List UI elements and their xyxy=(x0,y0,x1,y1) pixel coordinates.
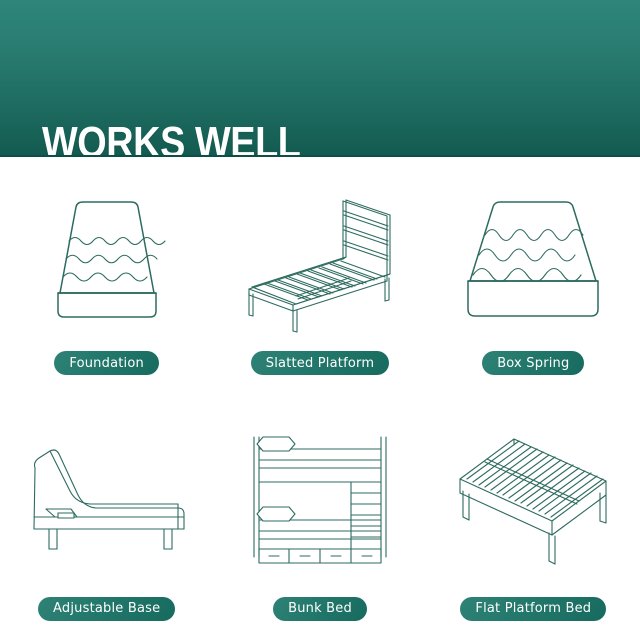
base-card-foundation[interactable]: Foundation xyxy=(0,157,213,399)
bases-grid: Foundation xyxy=(0,157,640,640)
base-card-bunk-bed[interactable]: Bunk Bed xyxy=(213,399,426,640)
base-card-adjustable-base[interactable]: Adjustable Base xyxy=(0,399,213,640)
base-label-foundation: Foundation xyxy=(54,351,159,375)
base-card-slatted-platform[interactable]: Slatted Platform xyxy=(213,157,426,399)
header-banner: WORKS WELL WITH THESE BASES xyxy=(0,0,640,157)
base-card-box-spring[interactable]: Box Spring xyxy=(427,157,640,399)
base-card-flat-platform-bed[interactable]: Flat Platform Bed xyxy=(427,399,640,640)
box-spring-icon xyxy=(440,183,626,333)
base-label-box-spring: Box Spring xyxy=(482,351,584,375)
base-label-adjustable-base: Adjustable Base xyxy=(38,597,175,621)
flat-platform-bed-icon xyxy=(440,425,626,575)
adjustable-base-icon xyxy=(14,425,200,575)
page-title: WORKS WELL WITH THESE BASES xyxy=(42,28,524,157)
slatted-platform-bed-icon xyxy=(227,183,413,333)
mattress-foundation-icon xyxy=(14,183,200,333)
base-label-slatted-platform: Slatted Platform xyxy=(251,351,389,375)
works-well-with-these-bases-infographic: WORKS WELL WITH THESE BASES Foundation xyxy=(0,0,640,640)
page-title-line-1: WORKS WELL xyxy=(42,120,524,157)
bunk-bed-icon xyxy=(227,425,413,575)
base-label-bunk-bed: Bunk Bed xyxy=(273,597,367,621)
base-label-flat-platform-bed: Flat Platform Bed xyxy=(460,597,606,621)
